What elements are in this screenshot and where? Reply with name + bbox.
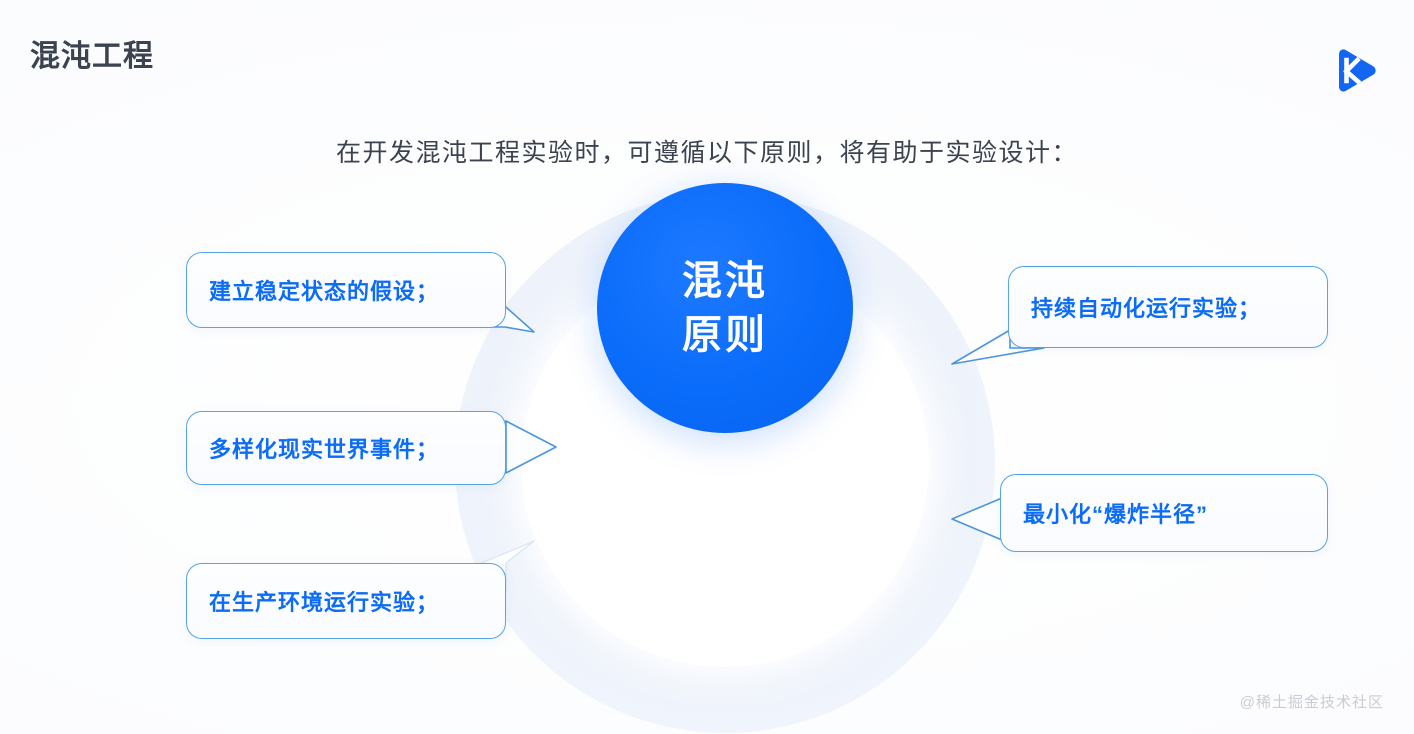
principle-label: 多样化现实世界事件； (209, 432, 439, 464)
subtitle-text: 在开发混沌工程实验时，可遵循以下原则，将有助于实验设计： (0, 138, 1414, 169)
principle-callout-left-2[interactable]: 多样化现实世界事件； (186, 411, 506, 485)
center-core-circle: 混沌 原则 (597, 183, 853, 433)
principle-label: 最小化“爆炸半径” (1023, 497, 1208, 529)
core-label-line2: 原则 (682, 308, 768, 362)
principle-callout-left-1[interactable]: 建立稳定状态的假设； (186, 252, 506, 328)
slide-canvas: 混沌工程 在开发混沌工程实验时，可遵循以下原则，将有助于实验设计： 混沌 原则 … (0, 0, 1414, 734)
principle-label: 持续自动化运行实验； (1031, 291, 1261, 323)
juejin-play-k-logo-icon (1326, 43, 1384, 101)
principle-callout-left-3[interactable]: 在生产环境运行实验； (186, 563, 506, 639)
core-label-line1: 混沌 (682, 254, 768, 308)
watermark: @稀土掘金技术社区 (1240, 691, 1384, 712)
principle-label: 建立稳定状态的假设； (209, 274, 439, 306)
page-title: 混沌工程 (30, 42, 154, 72)
principle-label: 在生产环境运行实验； (209, 585, 439, 617)
principle-callout-right-2[interactable]: 最小化“爆炸半径” (1000, 474, 1328, 552)
principle-callout-right-1[interactable]: 持续自动化运行实验； (1008, 266, 1328, 348)
